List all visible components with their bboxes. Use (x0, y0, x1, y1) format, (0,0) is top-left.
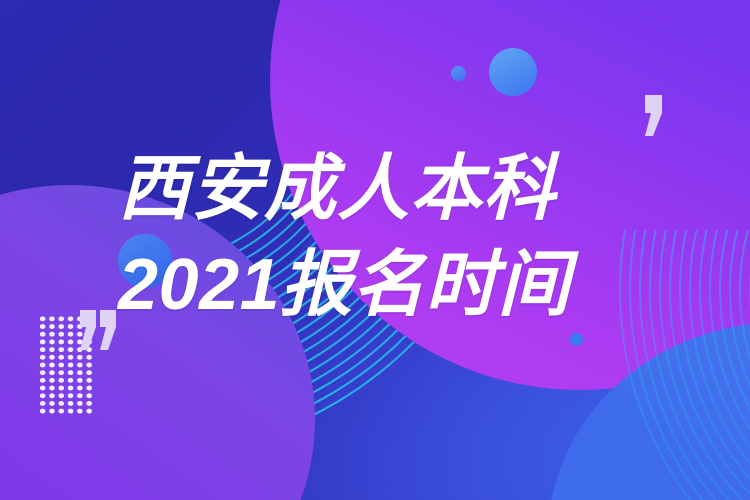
headline-line-2: 2021报名时间 (118, 238, 678, 334)
decorative-circle-small (451, 66, 466, 81)
headline-block: 西安成人本科 2021报名时间 (118, 142, 678, 334)
open-quote-icon (79, 309, 117, 351)
decorative-circle-tiny (570, 333, 583, 346)
decorative-circle-large (489, 48, 537, 96)
headline-line-1: 西安成人本科 (118, 142, 678, 238)
promo-banner: 西安成人本科 2021报名时间 (0, 0, 750, 500)
close-quote-icon (629, 93, 663, 137)
